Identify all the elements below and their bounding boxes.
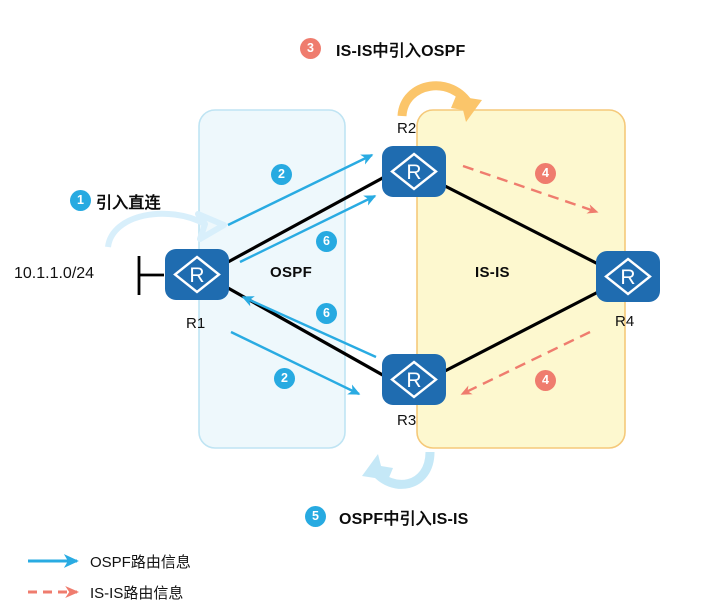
region-label-isis: IS-IS (475, 264, 510, 281)
annotation-badge-5: 5 (305, 506, 326, 527)
router-r4[interactable]: R (596, 251, 660, 302)
router-icon: R (596, 251, 660, 302)
router-label-r4: R4 (615, 313, 634, 330)
svg-text:R: R (189, 264, 204, 287)
annotation-badge-1: 1 (70, 190, 91, 211)
step-badge-6-lower: 6 (316, 303, 337, 324)
legend-label-isis: IS-IS路由信息 (90, 582, 183, 603)
region-isis (417, 110, 625, 448)
router-r1[interactable]: R (165, 249, 229, 300)
annotation-badge-3: 3 (300, 38, 321, 59)
annotation-text-3: IS-IS中引入OSPF (336, 37, 466, 61)
stub-link-r1 (138, 256, 164, 295)
network-prefix-label: 10.1.1.0/24 (14, 265, 94, 283)
step-badge-2-upper: 2 (271, 164, 292, 185)
svg-text:R: R (406, 369, 421, 392)
router-r3[interactable]: R (382, 354, 446, 405)
import-arrow-isis-to-ospf-head (362, 454, 393, 480)
region-label-ospf: OSPF (270, 264, 312, 281)
annotation-text-5: OSPF中引入IS-IS (339, 505, 469, 529)
step-badge-4-lower: 4 (535, 370, 556, 391)
svg-text:R: R (620, 266, 635, 289)
annotation-text-1: 引入直连 (96, 189, 161, 213)
legend-label-ospf: OSPF路由信息 (90, 551, 191, 572)
router-label-r2: R2 (397, 120, 416, 137)
step-badge-2-lower: 2 (274, 368, 295, 389)
router-label-r3: R3 (397, 412, 416, 429)
svg-text:R: R (406, 161, 421, 184)
router-icon: R (382, 354, 446, 405)
router-r2[interactable]: R (382, 146, 446, 197)
step-badge-6-upper: 6 (316, 231, 337, 252)
router-icon: R (382, 146, 446, 197)
router-label-r1: R1 (186, 315, 205, 332)
router-icon: R (165, 249, 229, 300)
step-badge-4-upper: 4 (535, 163, 556, 184)
